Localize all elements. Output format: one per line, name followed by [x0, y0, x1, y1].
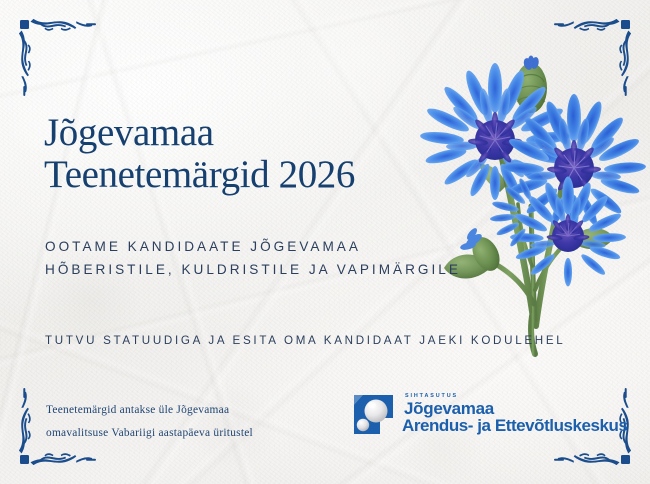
page-title: Jõgevamaa Teenetemärgid 2026: [44, 112, 355, 195]
organization-logo[interactable]: SIHTASUTUS Jõgevamaa Arendus- ja Ettevõt…: [351, 392, 627, 437]
poster-canvas: Jõgevamaa Teenetemärgid 2026 OOTAME KAND…: [0, 0, 650, 484]
call-to-action-text: TUTVU STATUUDIGA JA ESITA OMA KANDIDAAT …: [45, 334, 565, 347]
logo-wordmark: SIHTASUTUS Jõgevamaa Arendus- ja Ettevõt…: [402, 392, 627, 435]
logo-line-2: Arendus- ja Ettevõtluskeskus: [402, 417, 627, 435]
cornflower-bouquet-illustration: [392, 28, 650, 358]
logo-line-1: Jõgevamaa: [404, 400, 627, 417]
subtitle-text: OOTAME KANDIDAATE JÕGEVAMAA HÕBERISTILE,…: [45, 235, 461, 282]
jaek-logo-mark-icon: [351, 392, 396, 437]
footnote-text: Teenetemärgid antakse üle Jõgevamaa omav…: [46, 399, 253, 445]
